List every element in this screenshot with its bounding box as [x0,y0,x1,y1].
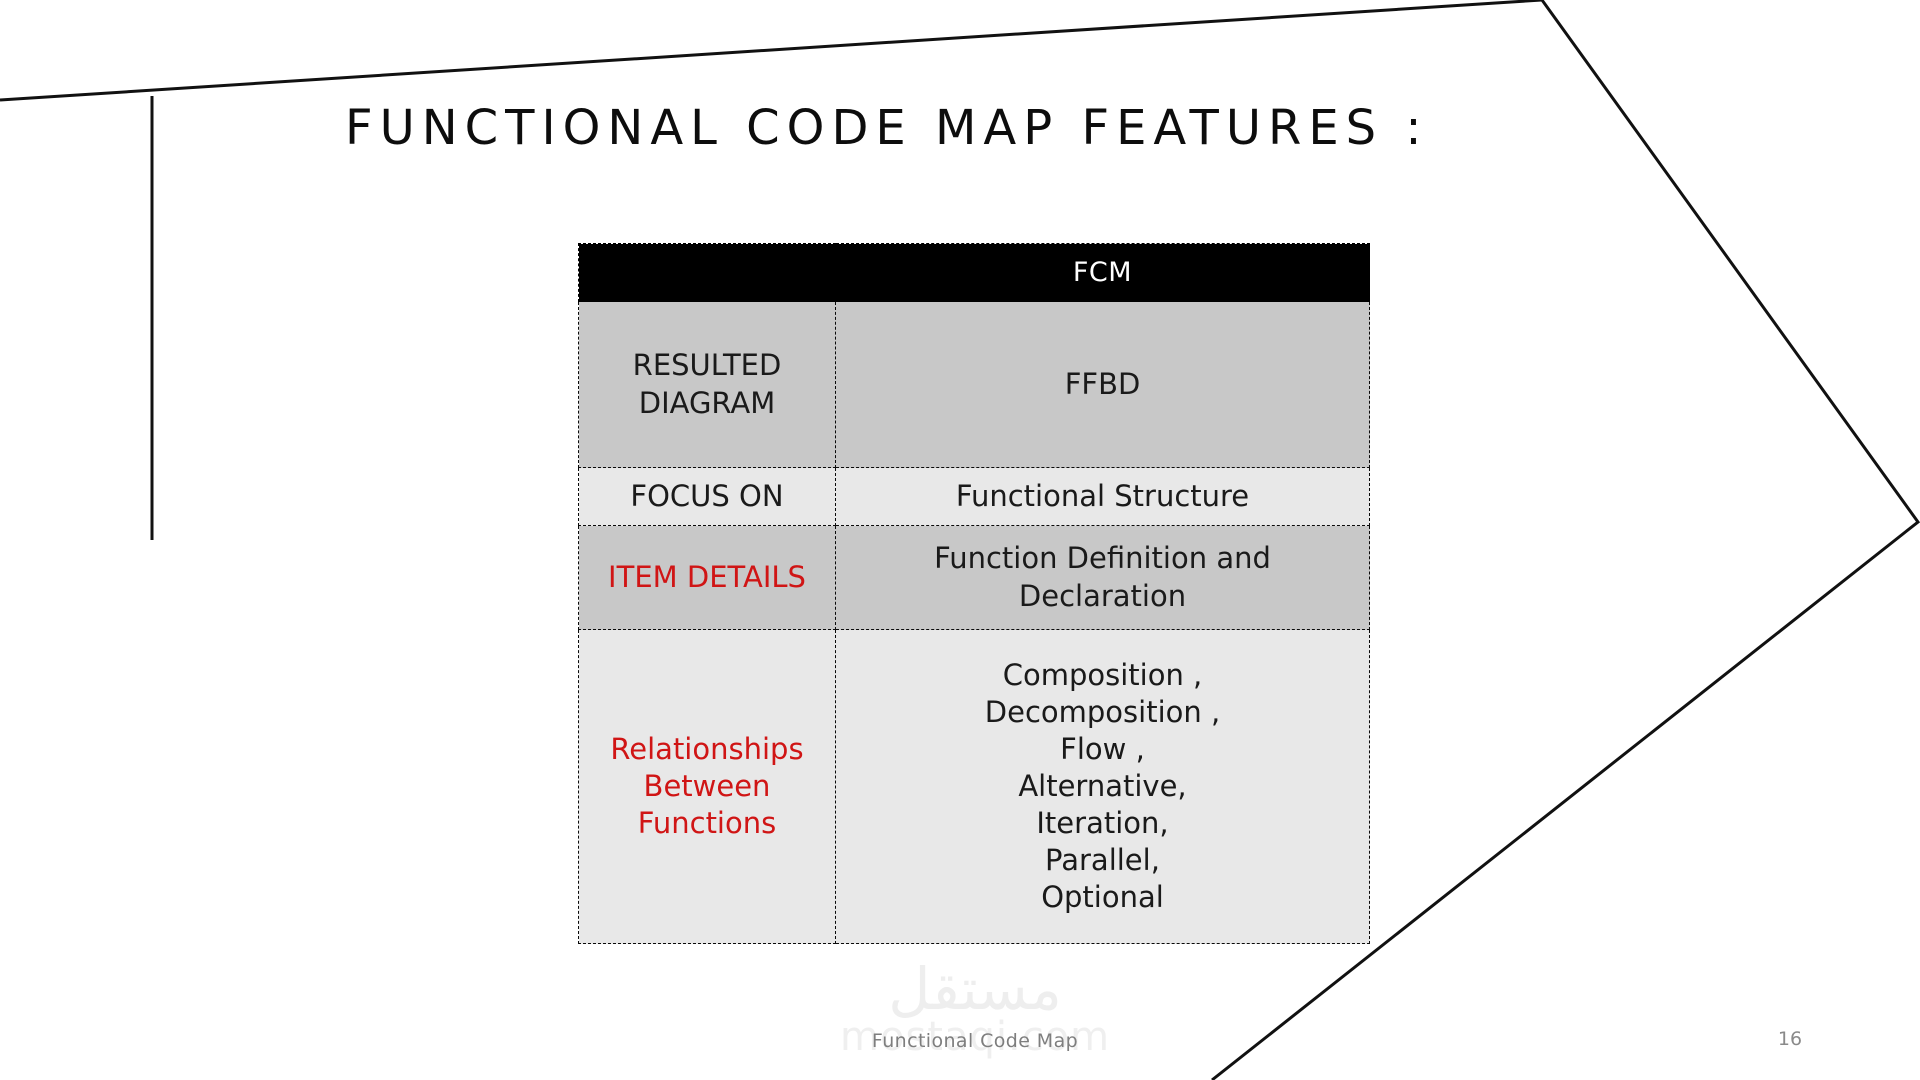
table-row: RelationshipsBetweenFunctions Compositio… [579,630,1370,944]
table-header-row: FCM [579,244,1370,302]
footer-note: Functional Code Map [780,1030,1170,1052]
page-title: FUNCTIONAL CODE MAP FEATURES : [345,100,1429,156]
row-value-relationships: Composition ,Decomposition ,Flow ,Altern… [836,630,1370,944]
table-row: FOCUS ON Functional Structure [579,468,1370,526]
table-row: RESULTEDDIAGRAM FFBD [579,302,1370,468]
page-number: 16 [1760,1028,1820,1050]
slide-canvas: FUNCTIONAL CODE MAP FEATURES : FCM RESUL… [0,0,1920,1080]
row-value-item-details: Function Definition andDeclaration [836,526,1370,630]
row-label-item-details: ITEM DETAILS [579,526,836,630]
table-header-fcm-cell: FCM [836,244,1370,302]
watermark-arabic-text: مستقل [840,962,1110,1017]
row-label-resulted-diagram: RESULTEDDIAGRAM [579,302,836,468]
fcm-feature-table: FCM RESULTEDDIAGRAM FFBD FOCUS ON Functi… [578,243,1370,944]
top-diagonal-rule-icon [0,0,1542,100]
row-label-relationships: RelationshipsBetweenFunctions [579,630,836,944]
table-row: ITEM DETAILS Function Definition andDecl… [579,526,1370,630]
row-label-focus-on: FOCUS ON [579,468,836,526]
table-header-label-cell [579,244,836,302]
row-value-focus-on: Functional Structure [836,468,1370,526]
row-value-resulted-diagram: FFBD [836,302,1370,468]
